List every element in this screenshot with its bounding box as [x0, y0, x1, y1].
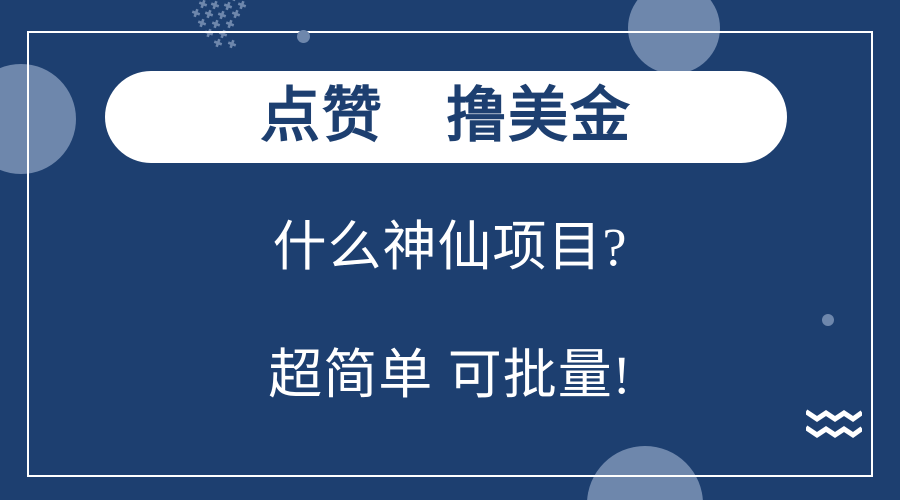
subline-question: 什么神仙项目? [0, 220, 900, 274]
poster-canvas: 点赞 撸美金 什么神仙项目? 超简单 可批量! [0, 0, 900, 500]
headline-badge: 点赞 撸美金 [105, 71, 787, 163]
poster-content: 点赞 撸美金 什么神仙项目? 超简单 可批量! [0, 0, 900, 500]
subline-benefit: 超简单 可批量! [0, 348, 900, 402]
headline-text: 点赞 撸美金 [260, 86, 632, 146]
